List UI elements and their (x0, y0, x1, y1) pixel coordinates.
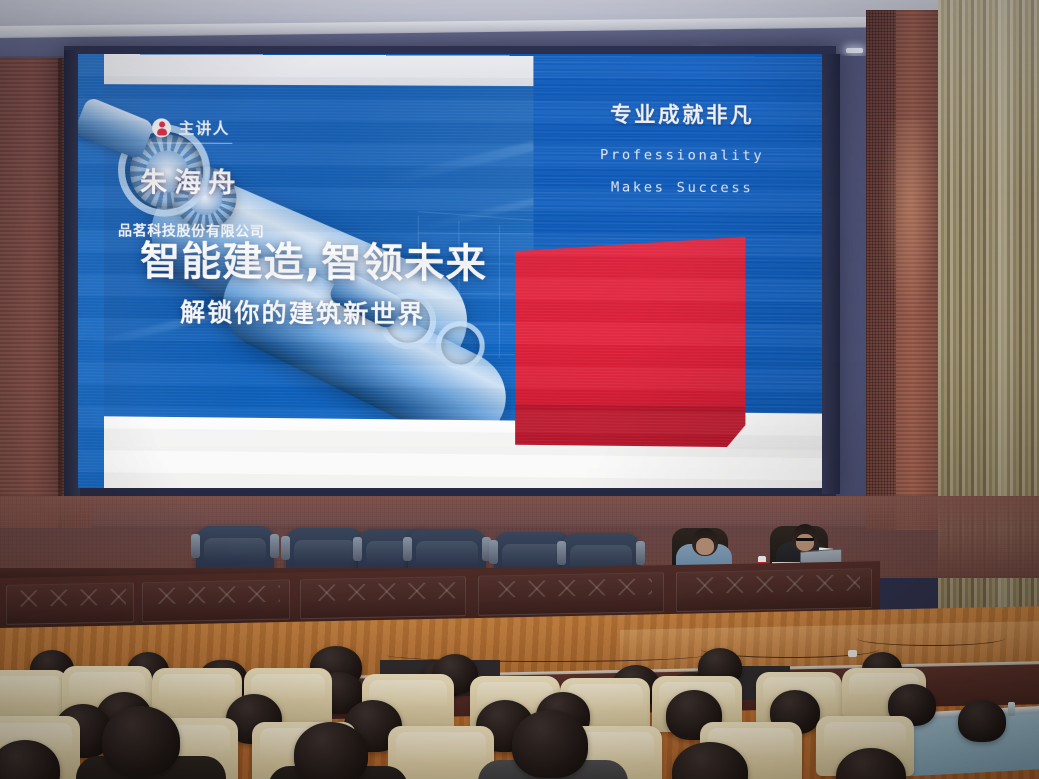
audience-head (294, 722, 368, 779)
audience-seat (388, 726, 494, 779)
audience-area (0, 0, 1039, 779)
audience-head (958, 700, 1006, 742)
auditorium-photo: 专业成就非凡 Professionality Makes Success 智能建… (0, 0, 1039, 779)
audience-head (102, 706, 180, 776)
audience-head (512, 710, 588, 778)
